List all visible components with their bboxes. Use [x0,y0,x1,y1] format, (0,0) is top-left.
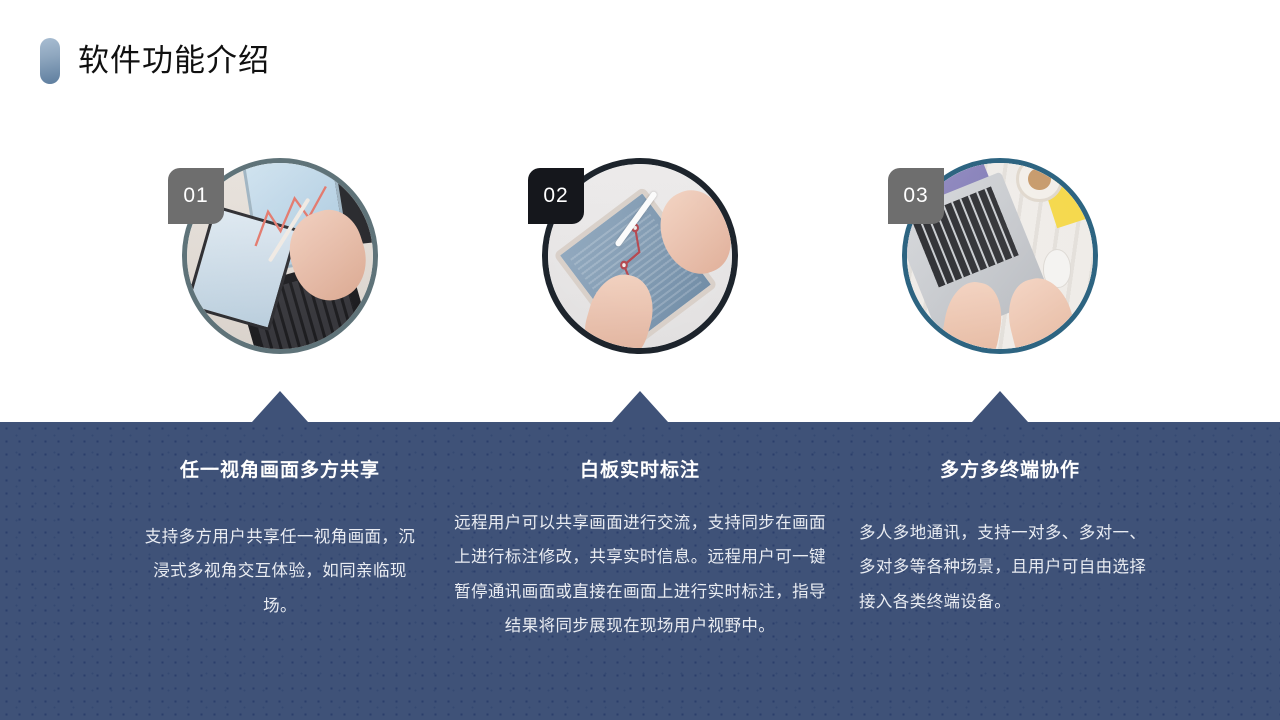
panel-notch-03 [972,391,1028,422]
panel-notch-02 [612,391,668,422]
panel-notch-01 [252,391,308,422]
feature-body-02: 远程用户可以共享画面进行交流，支持同步在画面上进行标注修改，共享实时信息。远程用… [440,506,840,643]
feature-body-01: 支持多方用户共享任一视角画面，沉浸式多视角交互体验，如同亲临现场。 [120,520,440,623]
feature-number-badge-03: 03 [888,168,944,224]
feature-text-01: 任一视角画面多方共享 支持多方用户共享任一视角画面，沉浸式多视角交互体验，如同亲… [120,422,440,623]
feature-body-03: 多人多地通讯，支持一对多、多对一、多对多等各种场景，且用户可自由选择接入各类终端… [855,516,1165,619]
feature-heading-03: 多方多终端协作 [855,455,1165,482]
feature-card-03[interactable]: 03 [902,158,1098,354]
feature-text-03: 多方多终端协作 多人多地通讯，支持一对多、多对一、多对多等各种场景，且用户可自由… [855,422,1165,619]
feature-heading-02: 白板实时标注 [440,455,840,482]
feature-text-panel: 任一视角画面多方共享 支持多方用户共享任一视角画面，沉浸式多视角交互体验，如同亲… [0,422,1280,720]
slide-canvas: 软件功能介绍 01 [0,0,1280,720]
feature-number-badge-01: 01 [168,168,224,224]
feature-heading-01: 任一视角画面多方共享 [120,455,440,482]
feature-card-01[interactable]: 01 [182,158,378,354]
feature-text-columns: 任一视角画面多方共享 支持多方用户共享任一视角画面，沉浸式多视角交互体验，如同亲… [0,422,1280,720]
feature-card-02[interactable]: 02 [542,158,738,354]
feature-number-badge-02: 02 [528,168,584,224]
feature-circles: 01 02 [0,0,1280,400]
feature-text-02: 白板实时标注 远程用户可以共享画面进行交流，支持同步在画面上进行标注修改，共享实… [440,422,840,643]
